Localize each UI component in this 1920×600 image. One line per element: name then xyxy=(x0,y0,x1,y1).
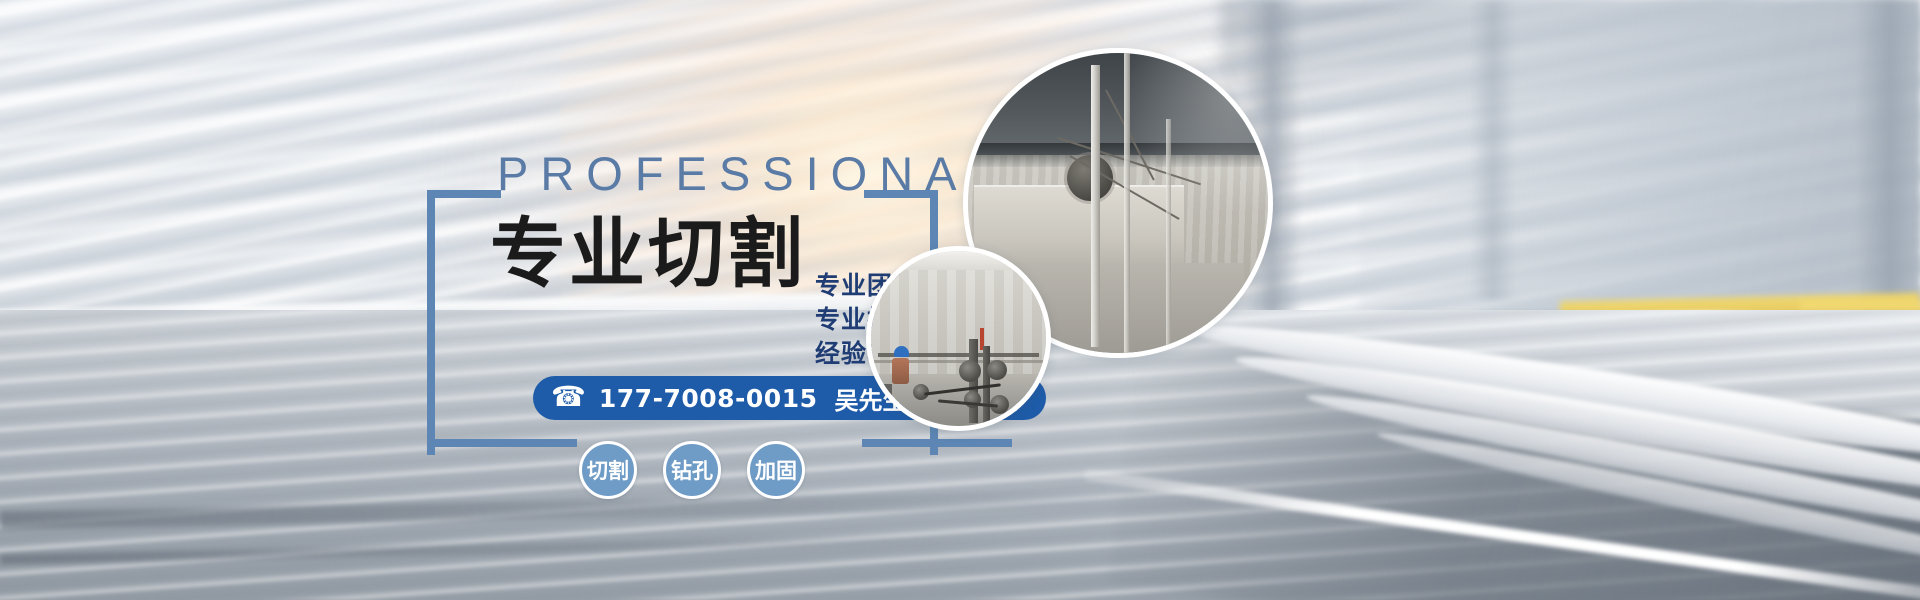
worker-blue-helmet xyxy=(894,346,909,357)
service-badge-cutting[interactable]: 切割 xyxy=(579,441,637,499)
telephone-icon: ☎ xyxy=(551,383,586,411)
photo-saw-wheel-1 xyxy=(959,360,981,382)
photo-ceiling-band xyxy=(871,251,1046,270)
bracket-top-left-horizontal xyxy=(427,190,501,198)
bracket-bottom-left-horizontal xyxy=(427,439,577,447)
page-title: 专业切割 xyxy=(490,216,806,292)
bracket-bottom-right-horizontal xyxy=(862,439,1012,447)
photo-highlight xyxy=(1121,48,1273,215)
wire-saw-worker-photo xyxy=(866,246,1051,431)
wordmark-professional: PROFESSIONAL xyxy=(497,150,1007,197)
photo-saw-wheel-2 xyxy=(987,360,1007,380)
photo-dark-corner xyxy=(871,384,892,426)
phone-number[interactable]: 177-7008-0015 xyxy=(599,384,818,413)
promotional-banner: PROFESSIONAL 专业切割 专业团队 专业技术 经验丰富 ☎ 177-7… xyxy=(0,0,1920,600)
wire-saw-worker-photo-content xyxy=(871,251,1046,426)
worker-body xyxy=(892,358,909,384)
bracket-top-left-vertical xyxy=(427,190,435,455)
service-badge-reinforcement[interactable]: 加固 xyxy=(747,441,805,499)
service-badge-group: 切割 钻孔 加固 xyxy=(579,441,805,499)
service-badge-drilling[interactable]: 钻孔 xyxy=(663,441,721,499)
photo-steel-post-1 xyxy=(1091,65,1100,347)
